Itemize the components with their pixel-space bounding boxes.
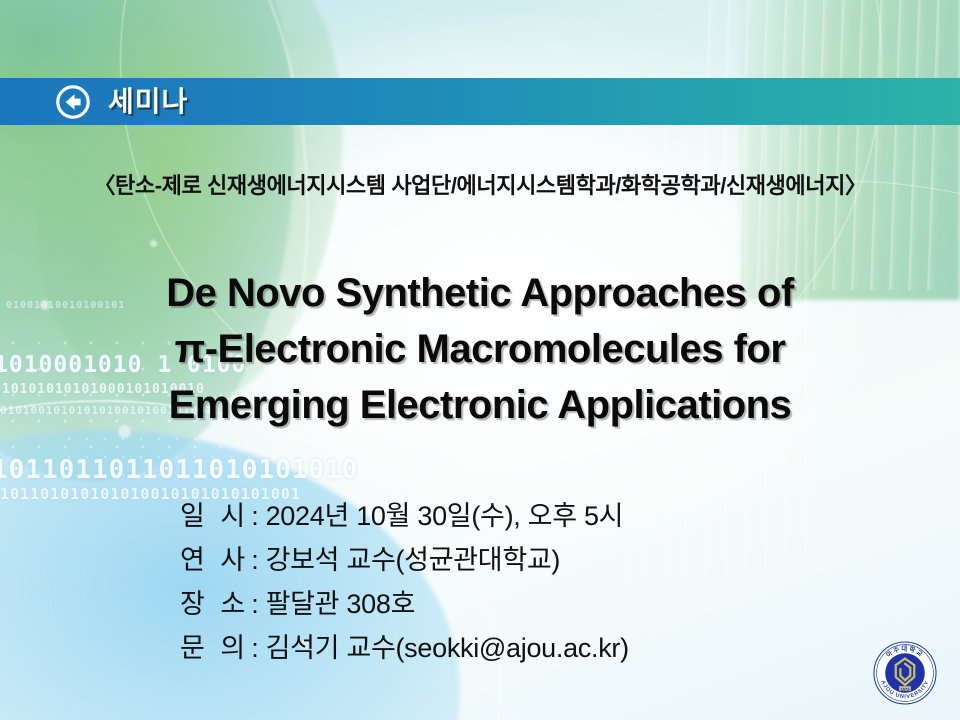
seminar-title: De Novo Synthetic Approaches of π-Electr… — [0, 265, 960, 433]
green-right-band — [740, 0, 960, 300]
info-value-speaker: 강보석 교수(성균관대학교) — [266, 545, 561, 575]
info-separator: : — [251, 589, 258, 619]
info-row-venue: 장 소: 팔달관 308호 — [180, 582, 629, 626]
info-row-contact: 문 의: 김석기 교수(seokki@ajou.ac.kr) — [180, 626, 629, 670]
info-label-contact: 문 의 — [180, 633, 249, 663]
light-streaks-top-right — [700, 0, 940, 290]
bokeh-dot — [150, 240, 157, 247]
back-arrow-circle-icon[interactable] — [55, 84, 91, 120]
info-separator: : — [251, 501, 258, 531]
seminar-poster: 01001010010100101 1010001010 1 0100 1010… — [0, 0, 960, 720]
info-label-datetime: 일 시 — [180, 501, 249, 531]
info-row-speaker: 연 사: 강보석 교수(성균관대학교) — [180, 538, 629, 582]
info-value-datetime: 2024년 10월 30일(수), 오후 5시 — [266, 501, 624, 531]
info-value-venue: 팔달관 308호 — [266, 589, 416, 619]
info-label-speaker: 연 사 — [180, 545, 249, 575]
logo-founded-year: 1973 — [901, 686, 911, 691]
title-line-3: Emerging Electronic Applications — [0, 377, 960, 433]
dot-grid-decoration-small — [60, 430, 360, 490]
info-value-contact: 김석기 교수(seokki@ajou.ac.kr) — [266, 633, 629, 663]
info-separator: : — [251, 545, 258, 575]
binary-text-row: 1011011011011010101010 — [0, 455, 358, 485]
ajou-university-logo: 1973 아주대학교 AJOU UNIVERSITY — [872, 640, 938, 706]
title-line-2: π-Electronic Macromolecules for — [0, 321, 960, 377]
info-label-venue: 장 소 — [180, 589, 249, 619]
info-separator: : — [251, 633, 258, 663]
title-line-1: De Novo Synthetic Approaches of — [0, 265, 960, 321]
seminar-info-block: 일 시: 2024년 10월 30일(수), 오후 5시 연 사: 강보석 교수… — [180, 494, 629, 670]
organization-line: 〈탄소-제로 신재생에너지시스템 사업단/에너지시스템학과/화학공학과/신재생에… — [0, 168, 960, 200]
header-title: 세미나 — [108, 88, 188, 116]
info-row-datetime: 일 시: 2024년 10월 30일(수), 오후 5시 — [180, 494, 629, 538]
header-bar: 세미나 — [0, 78, 960, 125]
